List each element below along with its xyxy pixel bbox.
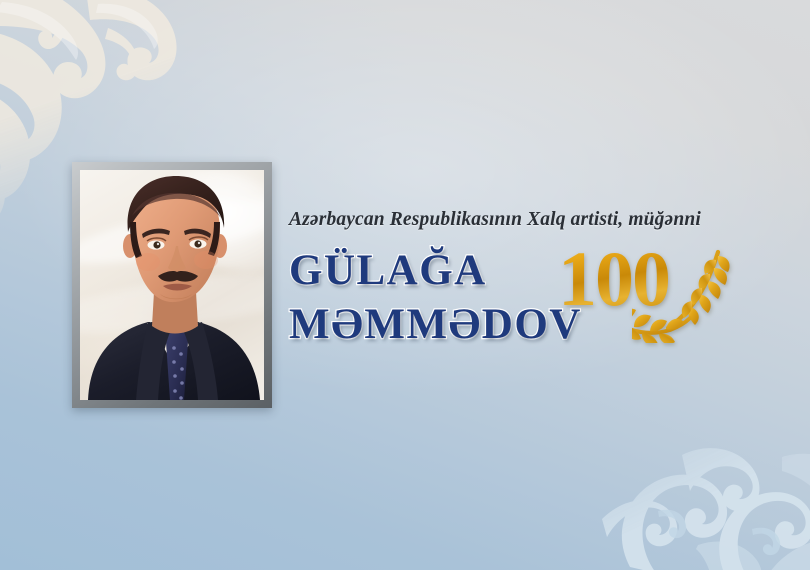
- floral-scroll-ornament-bottom-right: [586, 395, 810, 570]
- anniversary-poster: Azərbaycan Respublikasının Xalq artisti,…: [0, 0, 810, 570]
- anniversary-emblem: 100: [558, 240, 738, 345]
- portrait-frame: [72, 162, 272, 408]
- person-first-name: GÜLAĞA: [289, 246, 487, 295]
- portrait-photo: [80, 170, 264, 400]
- portrait-figure: [80, 170, 264, 400]
- laurel-branch-icon: [632, 248, 732, 343]
- honorary-title-subtitle: Azərbaycan Respublikasının Xalq artisti,…: [289, 209, 701, 231]
- person-last-name: MƏMMƏDOV: [289, 300, 582, 349]
